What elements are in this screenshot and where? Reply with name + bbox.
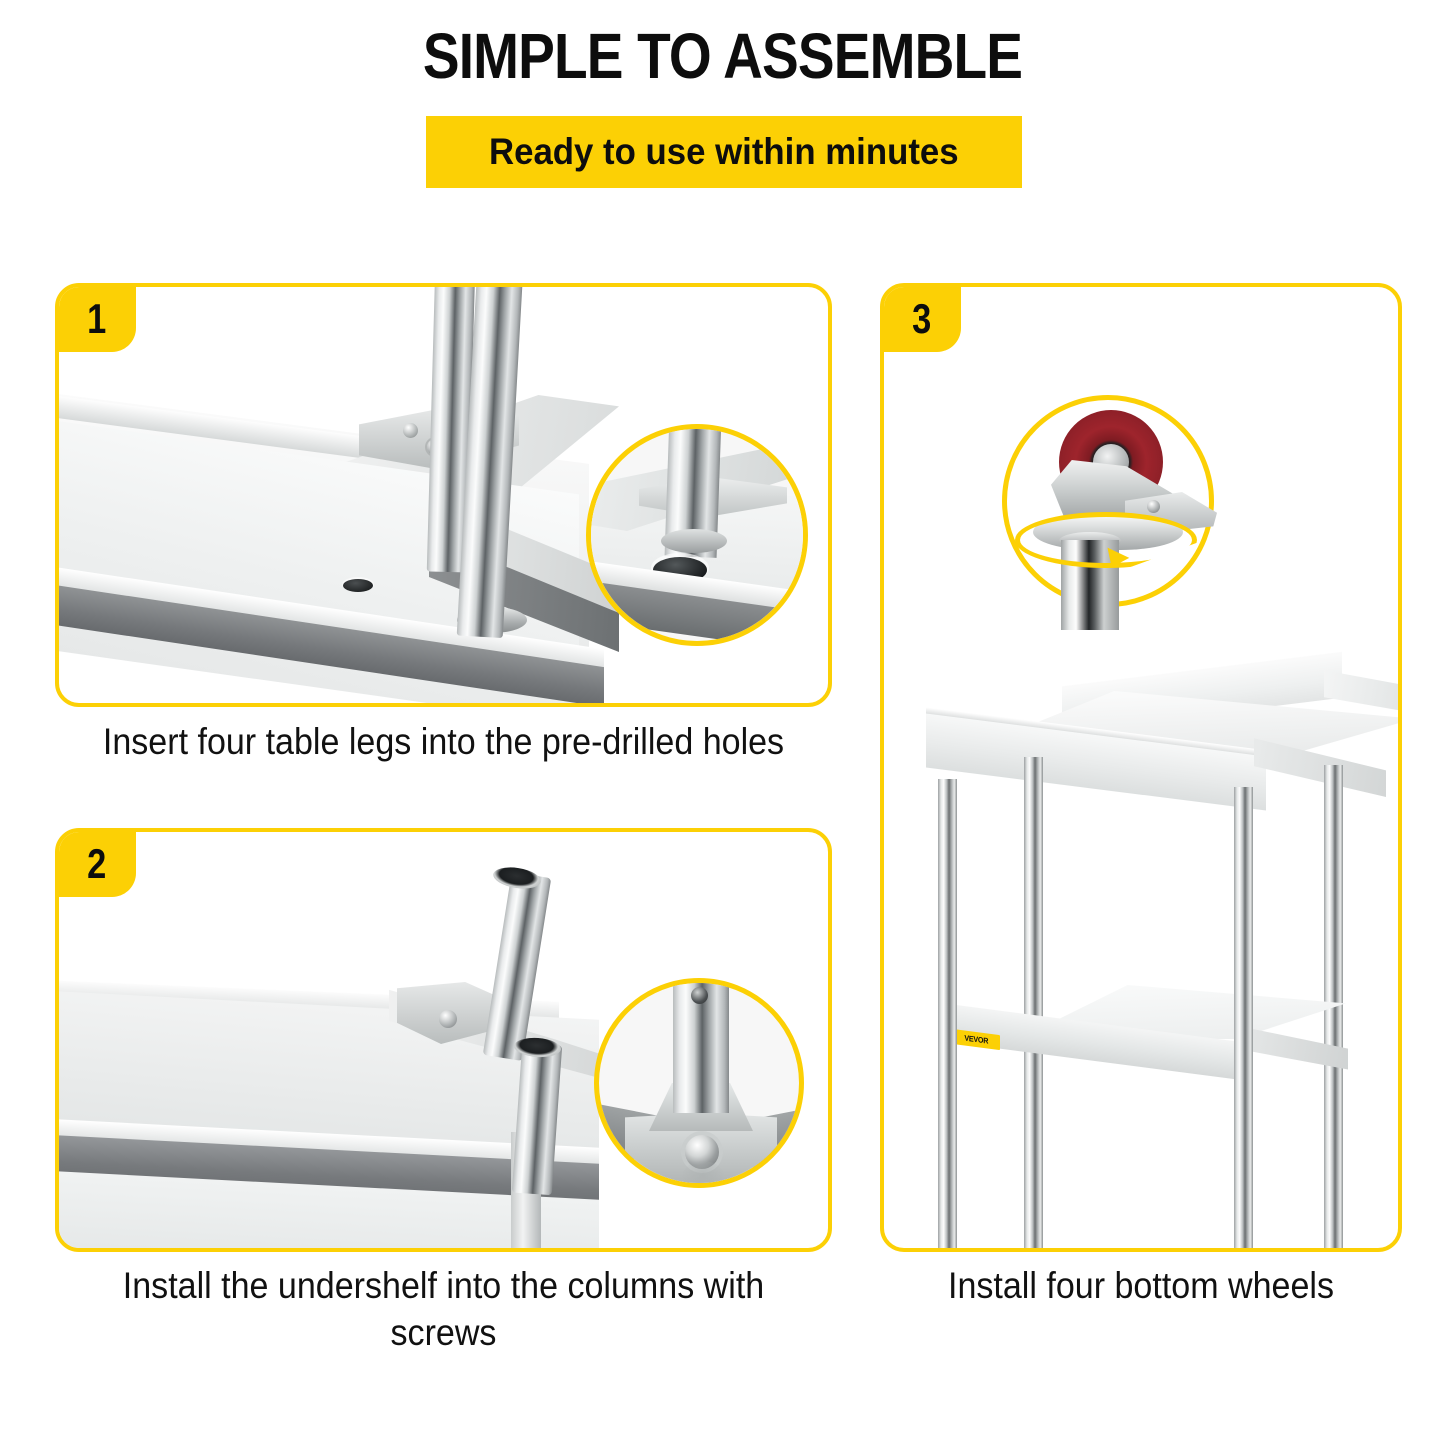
header: SIMPLE TO ASSEMBLE Ready to use within m… bbox=[0, 0, 1445, 250]
inset-brake-bolt-icon bbox=[1147, 500, 1160, 513]
inset-leg-collar bbox=[661, 529, 727, 553]
vevor-logo-text: VEVOR bbox=[964, 1033, 988, 1045]
step-panel-2: 2 bbox=[55, 828, 832, 1252]
screw-head-icon bbox=[403, 423, 418, 438]
step-badge-2: 2 bbox=[58, 831, 136, 897]
table-leg-front-right bbox=[1234, 787, 1253, 1252]
table-backsplash-side bbox=[1324, 665, 1402, 717]
step-2-detail-inset bbox=[594, 978, 804, 1188]
subtitle-banner: Ready to use within minutes bbox=[426, 116, 1022, 188]
inset-reflection bbox=[681, 1161, 725, 1188]
step-1-detail-inset bbox=[586, 424, 808, 646]
corner-screw-icon bbox=[439, 1010, 457, 1028]
step-number-label: 1 bbox=[87, 298, 106, 340]
step-3-detail-inset bbox=[1002, 395, 1214, 607]
step-2-caption: Install the undershelf into the columns … bbox=[86, 1262, 801, 1357]
step-number-label: 3 bbox=[912, 298, 931, 340]
subtitle-text: Ready to use within minutes bbox=[489, 131, 959, 173]
page-title: SIMPLE TO ASSEMBLE bbox=[101, 22, 1344, 91]
pre-drilled-hole bbox=[343, 579, 373, 592]
table-leg-back-left bbox=[1024, 757, 1043, 1252]
table-leg-front-left bbox=[938, 779, 957, 1252]
step-badge-1: 1 bbox=[58, 286, 136, 352]
step-panel-1: 1 bbox=[55, 283, 832, 707]
step-1-caption: Insert four table legs into the pre-dril… bbox=[86, 718, 801, 765]
step-3-caption: Install four bottom wheels bbox=[901, 1262, 1381, 1309]
infographic-page: SIMPLE TO ASSEMBLE Ready to use within m… bbox=[0, 0, 1445, 1445]
step-panel-3: VEVOR bbox=[880, 283, 1402, 1252]
step-badge-3: 3 bbox=[883, 286, 961, 352]
step-number-label: 2 bbox=[87, 843, 106, 885]
inset-leg-screw-icon bbox=[691, 987, 708, 1004]
